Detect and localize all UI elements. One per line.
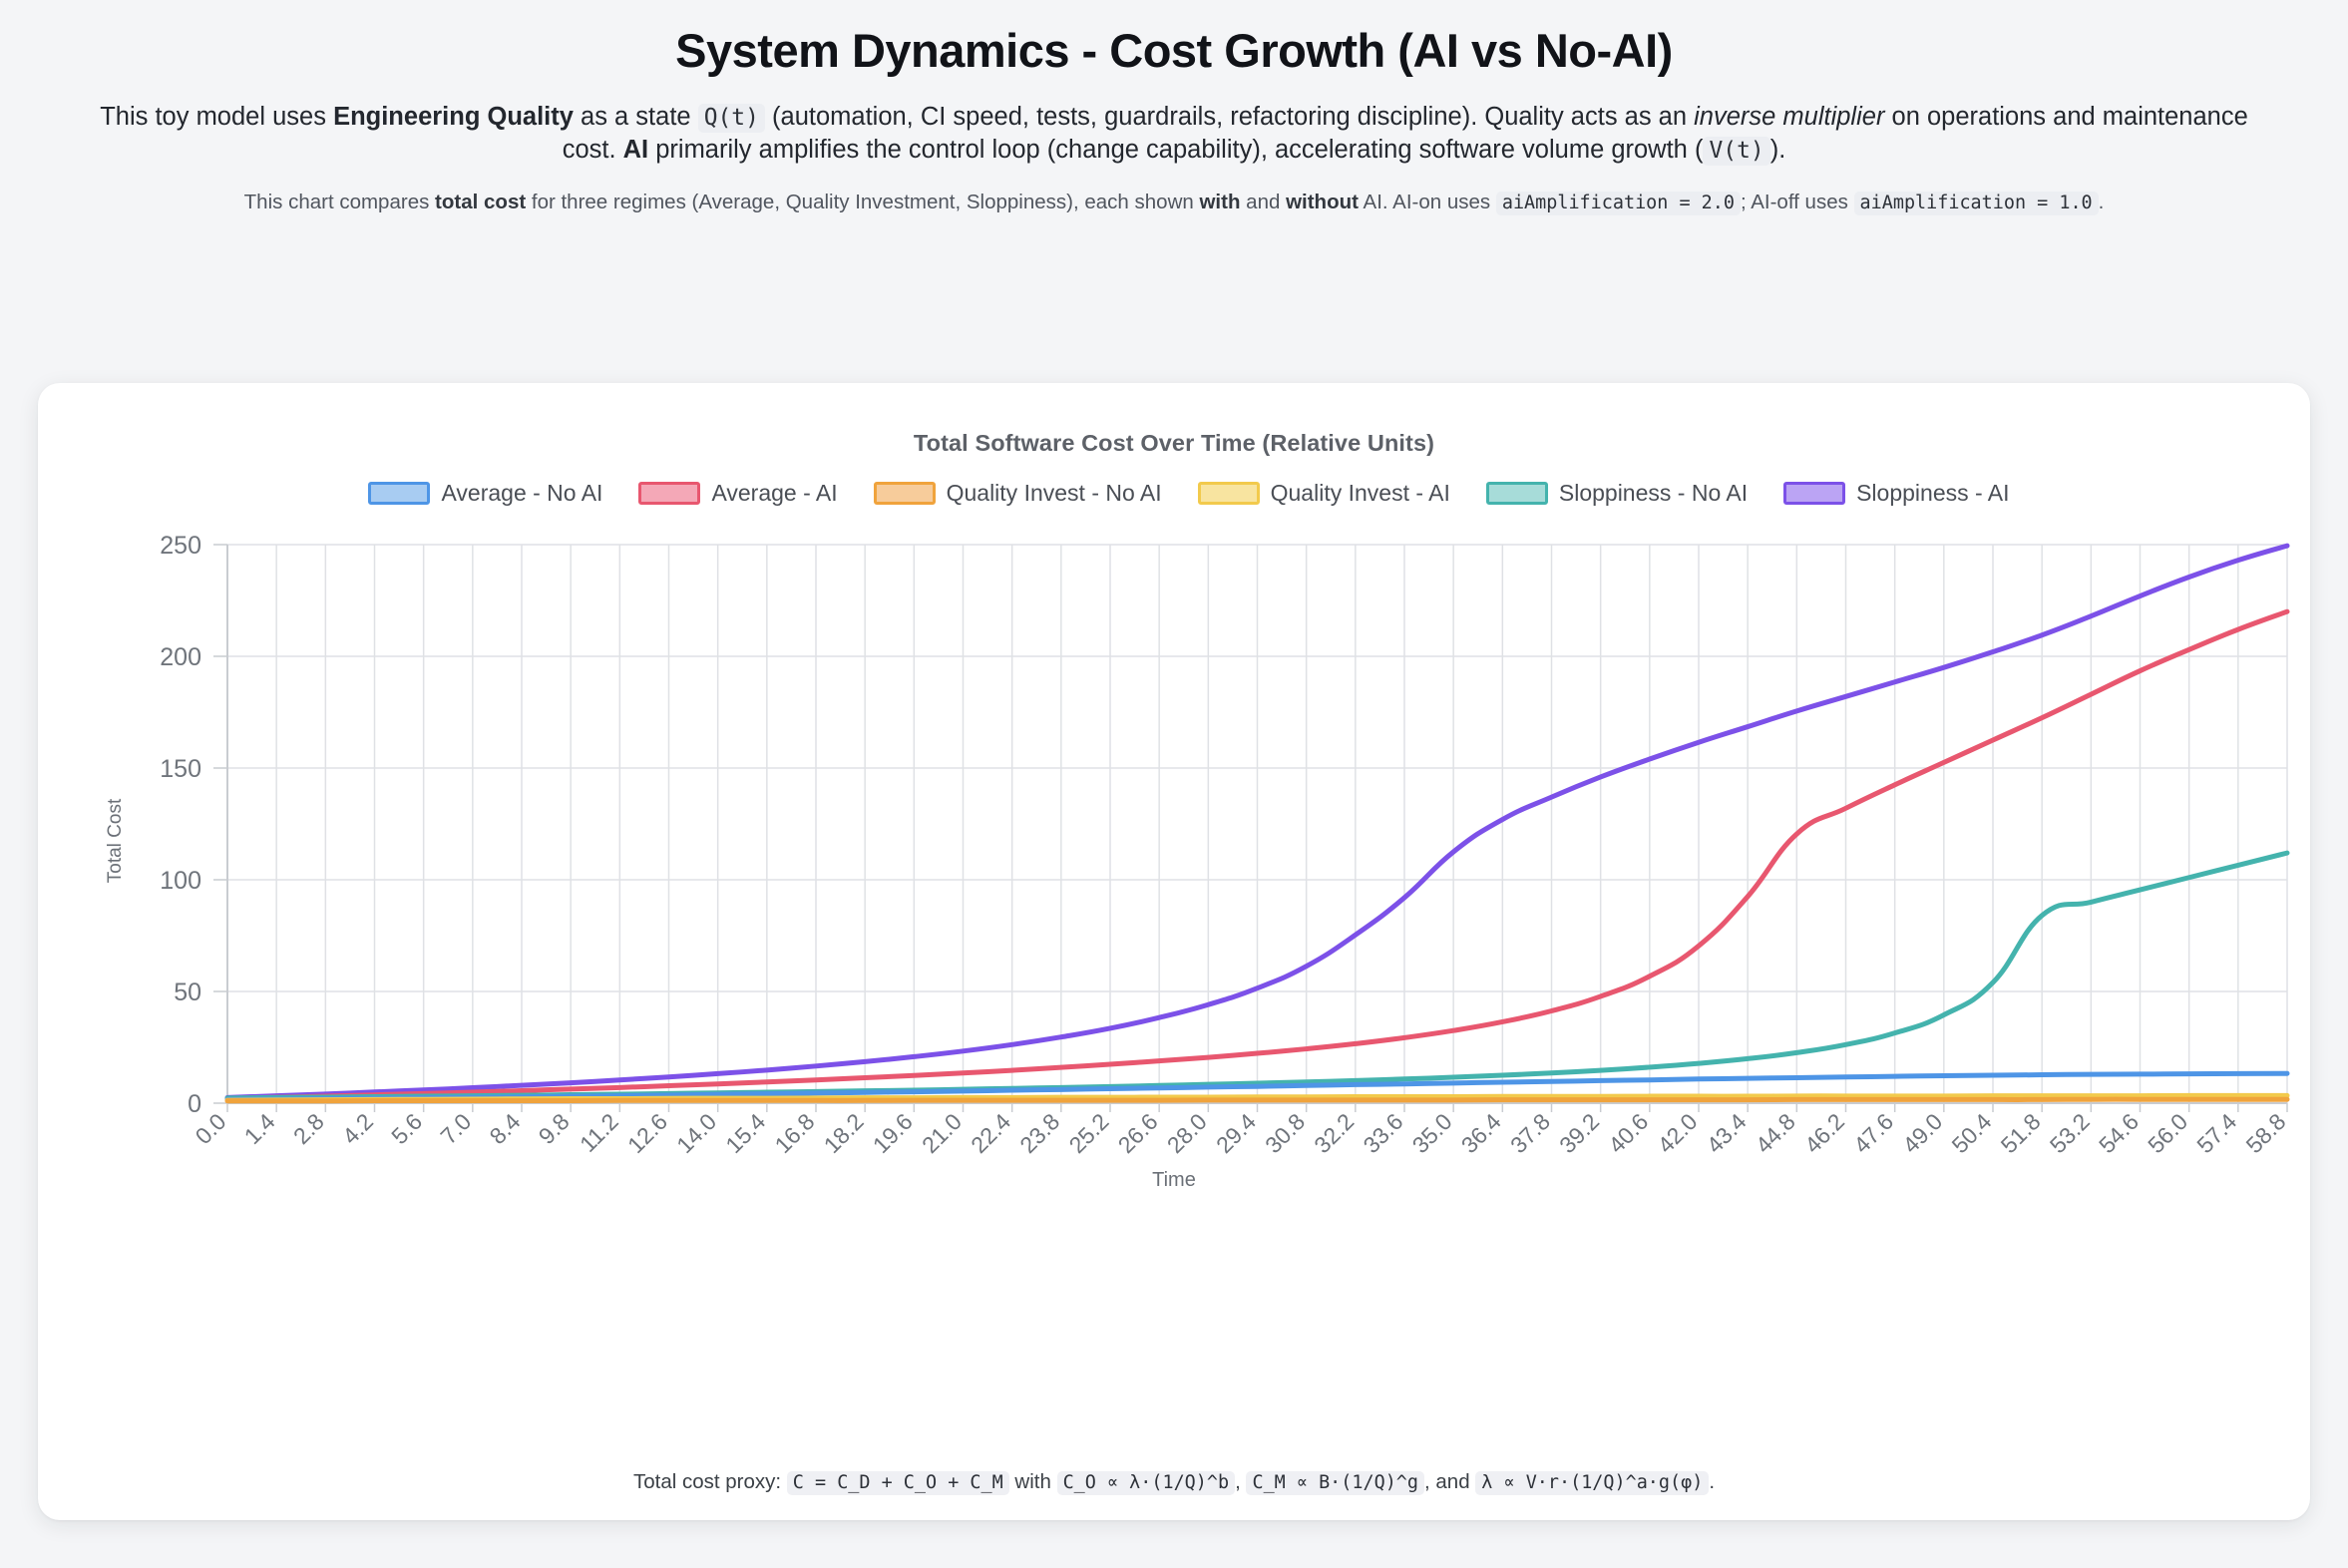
- formula-code-cm: C_M ∝ B·(1/Q)^g: [1246, 1471, 1424, 1495]
- note-strong-with: with: [1199, 191, 1240, 213]
- x-tick-label: 42.0: [1652, 1108, 1702, 1158]
- x-tick-label: 9.8: [534, 1108, 575, 1149]
- chart-title: Total Software Cost Over Time (Relative …: [38, 383, 2310, 457]
- intro-paragraph: This toy model uses Engineering Quality …: [77, 101, 2271, 168]
- x-tick-label: 47.6: [1848, 1108, 1898, 1158]
- legend-swatch-icon: [1486, 482, 1548, 505]
- intro-strong-ai: AI: [623, 136, 649, 164]
- x-tick-label: 18.2: [819, 1108, 869, 1158]
- x-tick-label: 22.4: [966, 1108, 1015, 1158]
- x-tick-label: 43.4: [1702, 1108, 1752, 1158]
- x-tick-label: 8.4: [485, 1108, 526, 1149]
- legend-item-quality-invest-ai[interactable]: Quality Invest - AI: [1198, 480, 1450, 507]
- note-code-ai-off: aiAmplification = 1.0: [1854, 192, 2099, 215]
- plot-area: Total Cost 0501001502002500.01.42.84.25.…: [38, 531, 2310, 1229]
- legend-label: Sloppiness - AI: [1856, 480, 2009, 507]
- legend-swatch-icon: [638, 482, 700, 505]
- x-tick-label: 57.4: [2191, 1108, 2241, 1158]
- note-text-4: AI. AI-on uses: [1359, 191, 1496, 213]
- x-tick-label: 23.8: [1014, 1108, 1064, 1158]
- x-tick-label: 54.6: [2094, 1108, 2144, 1158]
- legend-item-sloppiness-ai[interactable]: Sloppiness - AI: [1783, 480, 2009, 507]
- note-text-1: This chart compares: [244, 191, 435, 213]
- formula-code-lambda: λ ∝ V·r·(1/Q)^a·g(φ): [1475, 1471, 1709, 1495]
- intro-text-1: This toy model uses: [100, 103, 333, 131]
- y-tick-label: 250: [160, 532, 201, 560]
- legend-label: Quality Invest - No AI: [947, 480, 1162, 507]
- note-text-6: .: [2099, 191, 2105, 213]
- x-tick-label: 46.2: [1799, 1108, 1849, 1158]
- note-strong-without: without: [1286, 191, 1359, 213]
- x-tick-label: 15.4: [720, 1108, 770, 1158]
- x-tick-label: 26.6: [1113, 1108, 1163, 1158]
- chart-card: Total Software Cost Over Time (Relative …: [38, 383, 2310, 1520]
- x-tick-label: 11.2: [575, 1108, 623, 1157]
- legend-swatch-icon: [874, 482, 936, 505]
- x-tick-label: 1.4: [239, 1108, 280, 1149]
- x-tick-label: 28.0: [1162, 1108, 1212, 1158]
- intro-code-vt: V(t): [1703, 137, 1769, 166]
- x-tick-label: 4.2: [337, 1108, 378, 1149]
- note-text-2: for three regimes (Average, Quality Inve…: [526, 191, 1199, 213]
- x-tick-label: 50.4: [1946, 1108, 1996, 1158]
- legend-item-quality-invest-no-ai[interactable]: Quality Invest - No AI: [874, 480, 1162, 507]
- note-text-5: ; AI-off uses: [1741, 191, 1854, 213]
- x-tick-label: 19.6: [868, 1108, 918, 1158]
- intro-text-5: primarily amplifies the control loop (ch…: [648, 136, 1703, 164]
- legend-swatch-icon: [1783, 482, 1845, 505]
- page-root: System Dynamics - Cost Growth (AI vs No-…: [0, 0, 2348, 1568]
- x-tick-label: 49.0: [1897, 1108, 1947, 1158]
- x-tick-label: 51.8: [1996, 1108, 2046, 1158]
- x-tick-label: 35.0: [1407, 1108, 1457, 1158]
- x-tick-label: 2.8: [288, 1108, 329, 1149]
- legend-swatch-icon: [1198, 482, 1260, 505]
- x-axis-label: Time: [38, 1169, 2310, 1192]
- legend-swatch-icon: [368, 482, 430, 505]
- formula-text-3: ,: [1235, 1470, 1246, 1493]
- formula-text-5: .: [1709, 1470, 1715, 1493]
- chart-legend: Average - No AIAverage - AIQuality Inves…: [38, 480, 2310, 507]
- grid-lines: [213, 545, 2287, 1112]
- intro-code-qt: Q(t): [698, 104, 765, 133]
- x-tick-label: 5.6: [386, 1108, 427, 1149]
- formula-code-co: C_O ∝ λ·(1/Q)^b: [1057, 1471, 1236, 1495]
- y-tick-label: 50: [174, 979, 201, 1006]
- x-tick-label: 29.4: [1211, 1108, 1261, 1158]
- legend-label: Average - No AI: [441, 480, 602, 507]
- x-tick-label: 32.2: [1309, 1108, 1359, 1158]
- legend-item-average-no-ai[interactable]: Average - No AI: [368, 480, 602, 507]
- formula-text-4: , and: [1424, 1470, 1475, 1493]
- x-tick-label: 56.0: [2143, 1108, 2192, 1158]
- intro-strong-quality: Engineering Quality: [333, 103, 574, 131]
- y-tick-label: 150: [160, 755, 201, 783]
- note-code-ai-on: aiAmplification = 2.0: [1496, 192, 1741, 215]
- x-tick-label: 40.6: [1603, 1108, 1653, 1158]
- page-title: System Dynamics - Cost Growth (AI vs No-…: [0, 0, 2348, 81]
- intro-text-2: as a state: [574, 103, 698, 131]
- formula-text-2: with: [1009, 1470, 1057, 1493]
- y-tick-label: 200: [160, 643, 201, 671]
- formula-text-1: Total cost proxy:: [633, 1470, 787, 1493]
- x-tick-label: 39.2: [1554, 1108, 1604, 1158]
- legend-label: Average - AI: [711, 480, 837, 507]
- note-strong-total-cost: total cost: [435, 191, 526, 213]
- intro-text-6: ).: [1770, 136, 1786, 164]
- legend-item-average-ai[interactable]: Average - AI: [638, 480, 837, 507]
- note-text-3: and: [1240, 191, 1286, 213]
- x-tick-label: 44.8: [1751, 1108, 1800, 1158]
- x-tick-label: 36.4: [1456, 1108, 1506, 1158]
- series-line-quality-invest-no-ai[interactable]: [227, 1099, 2287, 1101]
- x-tick-label: 14.0: [671, 1108, 721, 1158]
- y-tick-label: 0: [188, 1090, 201, 1118]
- note-paragraph: This chart compares total cost for three…: [77, 188, 2271, 216]
- x-tick-label: 12.6: [622, 1108, 672, 1158]
- line-chart-svg[interactable]: 0501001502002500.01.42.84.25.67.08.49.81…: [38, 531, 2310, 1229]
- legend-label: Quality Invest - AI: [1271, 480, 1450, 507]
- x-tick-label: 33.6: [1358, 1108, 1407, 1158]
- x-tick-label: 25.2: [1063, 1108, 1113, 1158]
- x-tick-label: 53.2: [2045, 1108, 2095, 1158]
- legend-item-sloppiness-no-ai[interactable]: Sloppiness - No AI: [1486, 480, 1748, 507]
- cost-proxy-formula: Total cost proxy: C = C_D + C_O + C_M wi…: [38, 1470, 2310, 1494]
- x-tick-label: 21.0: [917, 1108, 967, 1158]
- x-tick-label: 30.8: [1260, 1108, 1310, 1158]
- x-tick-label: 16.8: [769, 1108, 819, 1158]
- y-tick-label: 100: [160, 867, 201, 895]
- intro-em-inverse-multiplier: inverse multiplier: [1694, 103, 1884, 131]
- legend-label: Sloppiness - No AI: [1559, 480, 1748, 507]
- x-tick-label: 58.8: [2240, 1108, 2290, 1158]
- formula-code-total: C = C_D + C_O + C_M: [787, 1471, 1009, 1495]
- x-tick-label: 7.0: [435, 1108, 476, 1149]
- intro-text-3: (automation, CI speed, tests, guardrails…: [765, 103, 1694, 131]
- x-tick-label: 37.8: [1505, 1108, 1555, 1158]
